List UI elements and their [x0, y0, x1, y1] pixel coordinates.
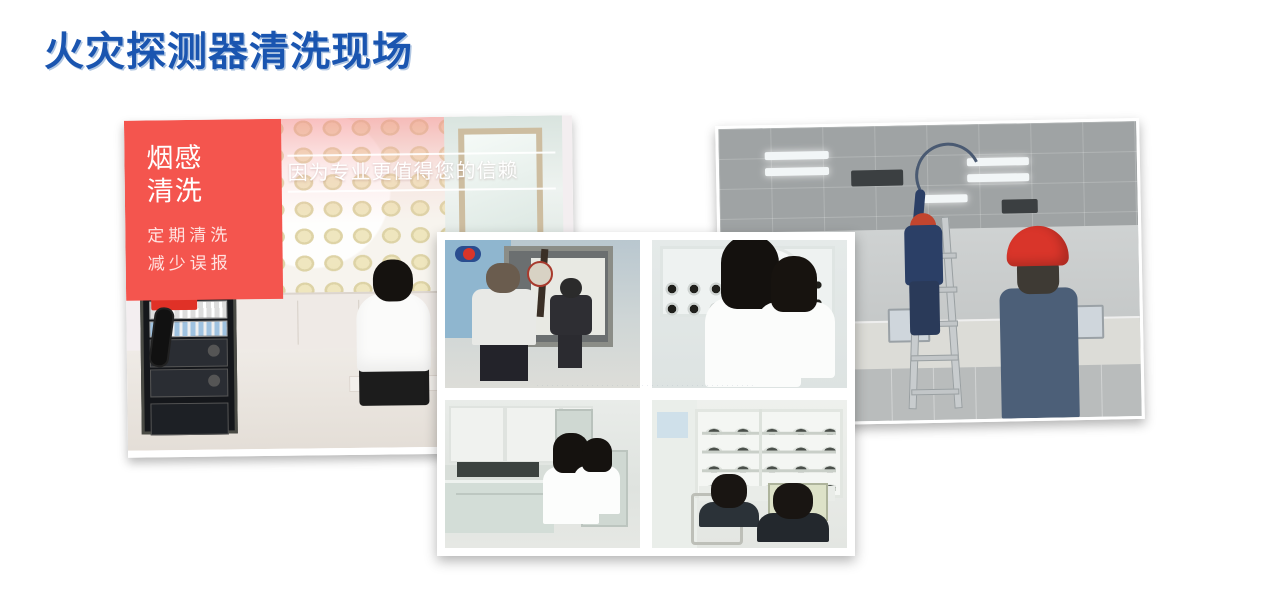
photo-grid — [443, 238, 849, 550]
test-operator-2 — [757, 483, 829, 548]
wall-logo-icon — [455, 246, 481, 262]
center-photo-grid-card[interactable]: ········································… — [437, 232, 855, 556]
promo-badge: 烟感 清洗 定期清洗 减少误报 — [124, 119, 283, 301]
banner-slogan: 因为专业更值得您的信赖 — [287, 153, 555, 190]
supervisor-red-helmet — [992, 225, 1084, 419]
worker-on-ladder — [901, 177, 948, 320]
lab-worker-back — [757, 256, 835, 376]
poster-page: 火灾探测器清洗现场 — [0, 0, 1280, 615]
lab-technician-2 — [574, 438, 620, 524]
banner-slogan-block: 因为专业更值得您的信赖 — [287, 151, 555, 192]
cleaning-tray — [457, 462, 539, 477]
worker-dark-uniform — [550, 278, 590, 364]
badge-headline-line2: 清洗 — [147, 174, 282, 209]
grid-photo-bottom-right[interactable] — [650, 398, 849, 550]
grid-photo-bottom-left[interactable] — [443, 398, 642, 550]
ceiling-vent-2 — [1002, 199, 1038, 214]
technician-left — [348, 259, 440, 410]
inspector-white-shirt — [472, 263, 536, 379]
ceiling-vent — [851, 169, 903, 186]
page-title: 火灾探测器清洗现场 — [44, 28, 413, 76]
badge-headline-line1: 烟感 — [146, 141, 281, 176]
grid-photo-top-left[interactable] — [443, 238, 642, 390]
grid-photo-top-right[interactable] — [650, 238, 849, 390]
badge-sub-line1: 定期清洗 — [147, 221, 282, 251]
test-operator-1 — [699, 474, 759, 545]
badge-sub-line2: 减少误报 — [148, 249, 283, 279]
